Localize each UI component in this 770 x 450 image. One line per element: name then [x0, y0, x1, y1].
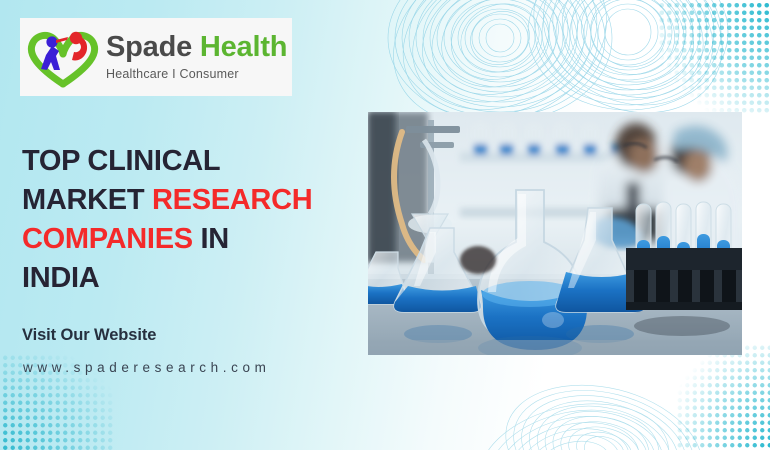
- brand-logo[interactable]: Spade Health Healthcare I Consumer: [20, 18, 292, 96]
- heart-with-people-logo-icon: [26, 26, 100, 88]
- halftone-dot-grid-bottom-right: [676, 344, 770, 450]
- promotional-banner: Spade Health Healthcare I Consumer TOP C…: [0, 0, 770, 450]
- headline-line-3: COMPANIES IN: [22, 220, 362, 259]
- website-url[interactable]: www.spaderesearch.com: [23, 360, 270, 375]
- cta-heading: Visit Our Website: [22, 326, 156, 345]
- brand-word-spade: Spade: [106, 31, 192, 63]
- headline-line-3-red: COMPANIES: [22, 223, 193, 255]
- headline-line-2-dark: MARKET: [22, 184, 152, 216]
- laboratory-photo-illustration: [368, 112, 742, 355]
- halftone-dot-grid-top-right: [658, 0, 770, 114]
- page-title: TOP CLINICAL MARKET RESEARCH COMPANIES I…: [22, 142, 362, 297]
- headline-line-2: MARKET RESEARCH: [22, 181, 362, 220]
- headline-line-4: INDIA: [22, 259, 362, 298]
- brand-tagline: Healthcare I Consumer: [106, 67, 287, 81]
- brand-word-health: Health: [200, 31, 287, 63]
- brand-name: Spade Health: [106, 33, 287, 63]
- headline-line-3-dark: IN: [193, 223, 229, 255]
- laboratory-photo: [368, 112, 742, 355]
- brand-logo-text: Spade Health Healthcare I Consumer: [106, 33, 287, 81]
- headline-line-2-red: RESEARCH: [152, 184, 312, 216]
- headline-line-1: TOP CLINICAL: [22, 142, 362, 181]
